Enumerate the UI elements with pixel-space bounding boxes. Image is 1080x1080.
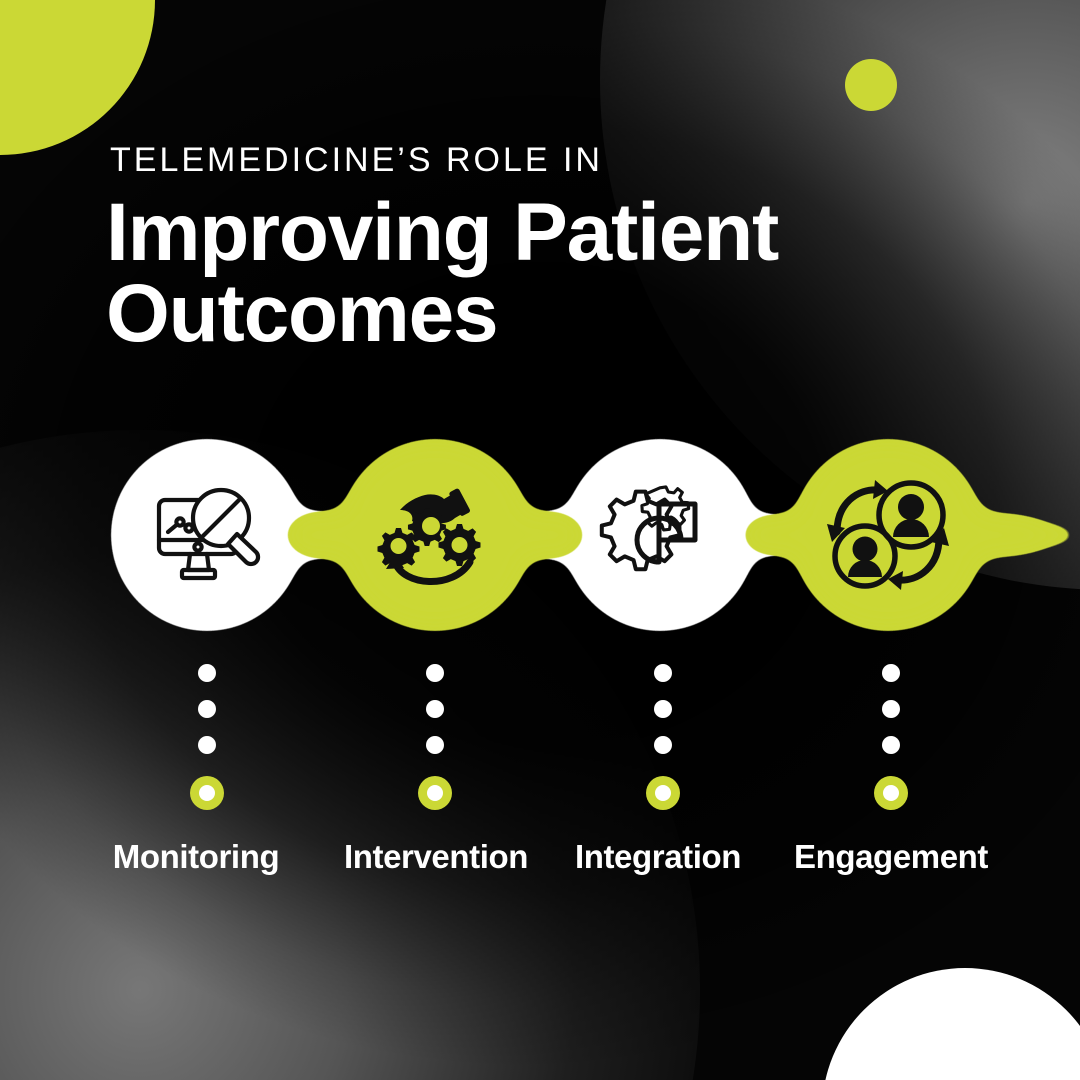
connector-dot [882, 700, 900, 718]
connector-integration [643, 664, 683, 814]
connector-ring-center [883, 785, 899, 801]
two-users-exchange-arrows-icon [823, 470, 953, 600]
connector-dot [882, 736, 900, 754]
connector-dot [198, 736, 216, 754]
connector-intervention [415, 664, 455, 814]
connector-dot [426, 664, 444, 682]
step-label-engagement: Engagement [794, 838, 988, 876]
connector-ring [418, 776, 452, 810]
connector-monitoring [187, 664, 227, 814]
monitor-chart-magnifier-icon [142, 470, 272, 600]
connector-dot [654, 664, 672, 682]
connector-dot [654, 736, 672, 754]
connector-dot [198, 700, 216, 718]
page-title: Improving Patient Outcomes [106, 192, 966, 354]
step-label-intervention: Intervention [344, 838, 528, 876]
eyebrow-text: TELEMEDICINE’S ROLE IN [110, 141, 603, 180]
connector-ring-center [199, 785, 215, 801]
connector-dot [426, 700, 444, 718]
accent-dot-top-right-shape [845, 59, 897, 111]
connector-ring [190, 776, 224, 810]
connector-ring-center [655, 785, 671, 801]
page-title-line-2: Outcomes [106, 273, 966, 354]
connector-ring [646, 776, 680, 810]
connector-dot [654, 700, 672, 718]
connector-dot [198, 664, 216, 682]
step-label-integration: Integration [575, 838, 741, 876]
connector-dot [882, 664, 900, 682]
step-label-monitoring: Monitoring [113, 838, 279, 876]
interlocking-gears-icon [595, 470, 725, 600]
connector-ring-center [427, 785, 443, 801]
connector-dot [426, 736, 444, 754]
hand-gears-arrow-icon [370, 470, 500, 600]
infographic-poster: TELEMEDICINE’S ROLE IN Improving Patient… [0, 0, 1080, 1080]
connector-ring [874, 776, 908, 810]
page-title-line-1: Improving Patient [106, 192, 966, 273]
connector-engagement [871, 664, 911, 814]
